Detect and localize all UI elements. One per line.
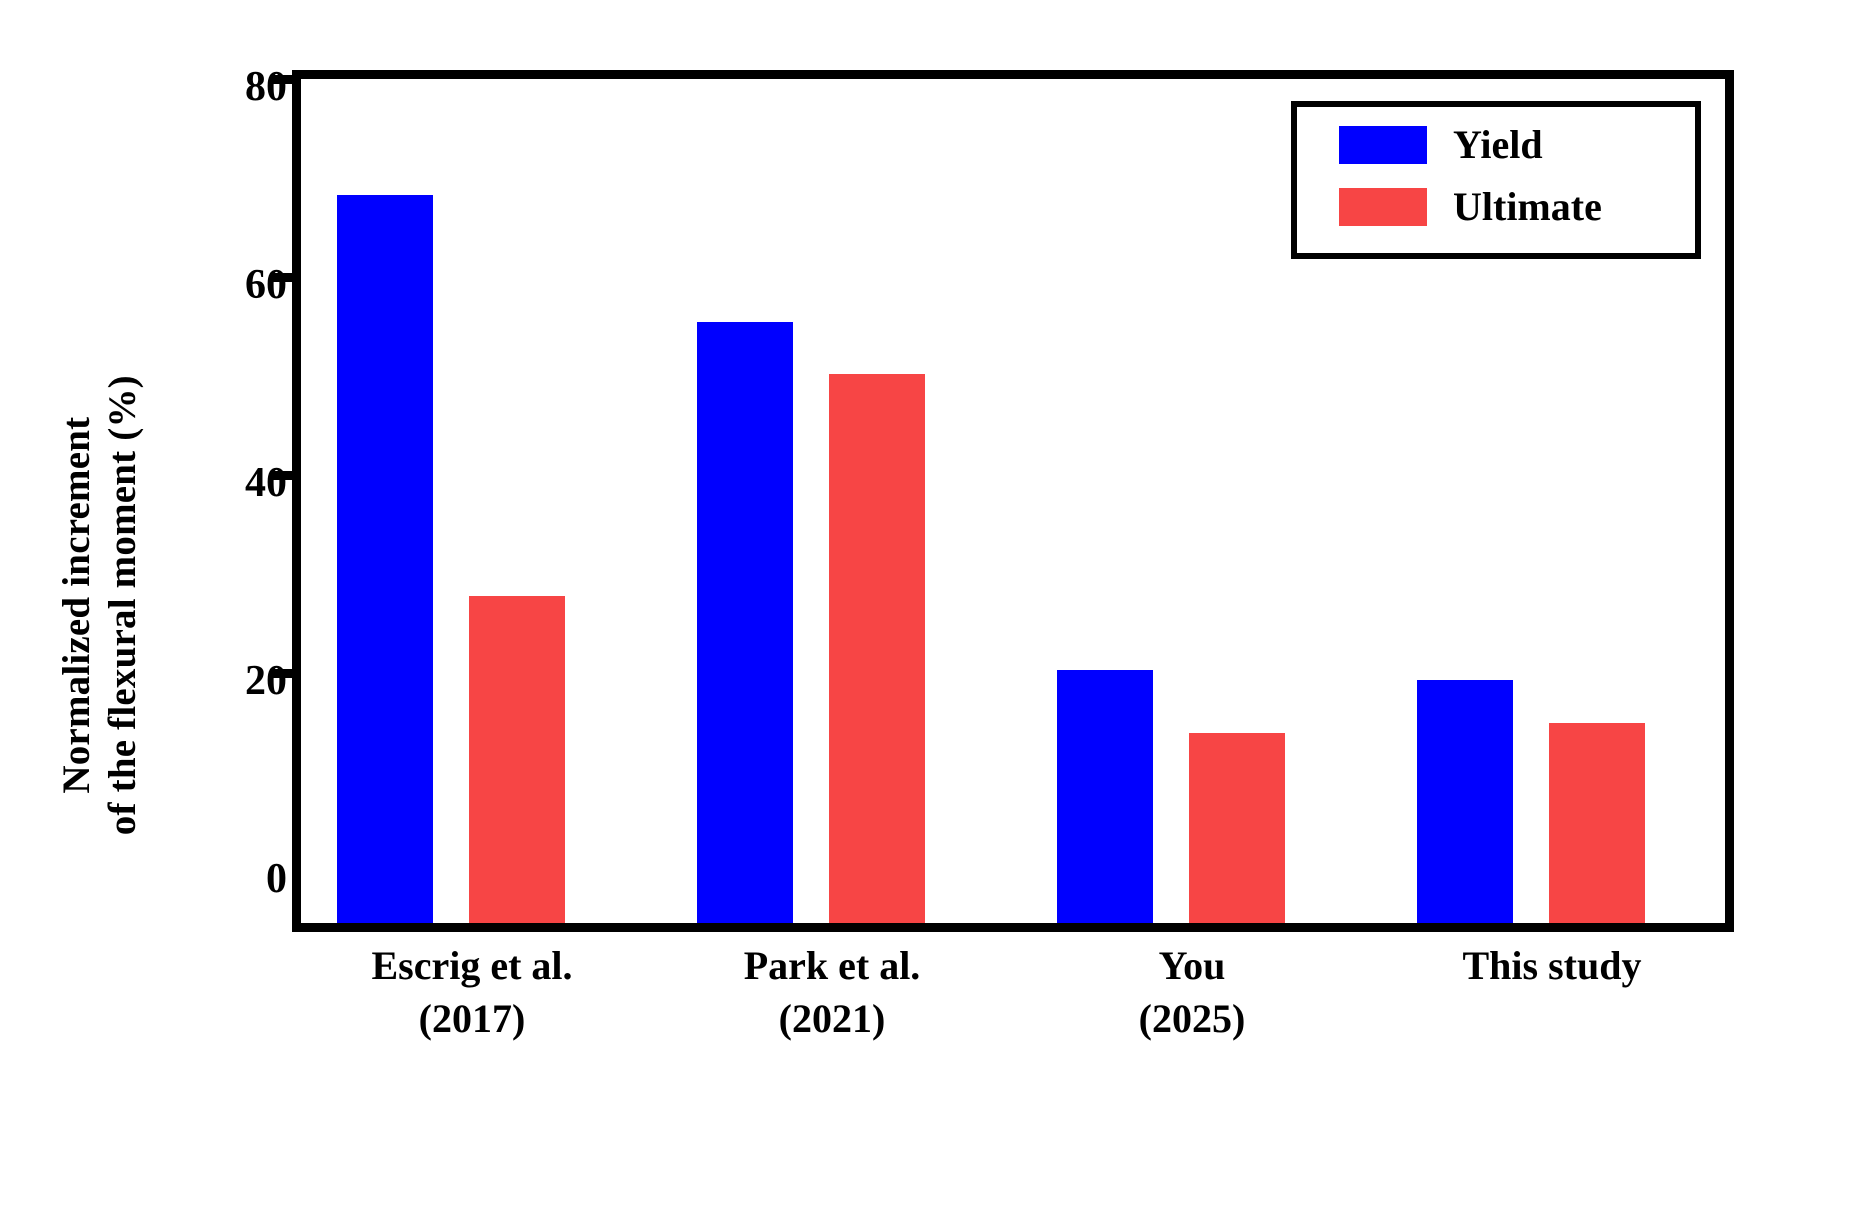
legend-label-yield: Yield [1453, 125, 1543, 165]
y-tick-label-0: 0 [177, 858, 287, 900]
bar-this-study-yield[interactable] [1417, 680, 1513, 923]
x-category-escrig-line1: Escrig et al. [371, 943, 572, 988]
x-category-you-line2: (2025) [1012, 993, 1372, 1046]
y-axis-tick-labels: 80 60 40 20 0 [175, 0, 287, 1213]
legend-label-ultimate: Ultimate [1453, 187, 1602, 227]
x-category-park-line2: (2021) [652, 993, 1012, 1046]
legend-item-yield[interactable]: Yield [1339, 125, 1543, 165]
x-category-this-study-line1: This study [1463, 943, 1642, 988]
y-axis-title-line2: of the flexural moment (%) [100, 375, 146, 835]
bar-escrig-yield[interactable] [337, 195, 433, 923]
x-axis-category-labels: Escrig et al. (2017) Park et al. (2021) … [292, 940, 1734, 1120]
y-tick-mark-80 [270, 75, 301, 84]
bar-escrig-ultimate[interactable] [469, 596, 565, 923]
y-tick-label-20: 20 [177, 660, 287, 702]
plot-frame: Yield Ultimate [292, 70, 1734, 932]
y-tick-mark-40 [270, 471, 301, 480]
x-category-you: You (2025) [1012, 940, 1372, 1046]
y-tick-label-40: 40 [177, 462, 287, 504]
x-category-escrig: Escrig et al. (2017) [292, 940, 652, 1046]
y-axis-title: Normalized increment of the flexural mom… [0, 0, 200, 1213]
x-category-park-line1: Park et al. [744, 943, 921, 988]
y-tick-label-60: 60 [177, 264, 287, 306]
bar-group-escrig [301, 79, 661, 923]
y-tick-label-80: 80 [177, 66, 287, 108]
legend-swatch-ultimate-icon [1339, 188, 1427, 226]
bar-this-study-ultimate[interactable] [1549, 723, 1645, 923]
bar-you-ultimate[interactable] [1189, 733, 1285, 923]
y-axis-title-line1: Normalized increment [55, 416, 98, 793]
x-category-park: Park et al. (2021) [652, 940, 1012, 1046]
y-tick-mark-60 [270, 273, 301, 282]
bar-chart-figure: Normalized increment of the flexural mom… [0, 0, 1865, 1213]
bar-group-park [661, 79, 1021, 923]
bar-park-ultimate[interactable] [829, 374, 925, 923]
x-category-you-line1: You [1159, 943, 1226, 988]
x-category-this-study: This study [1372, 940, 1732, 993]
bar-you-yield[interactable] [1057, 670, 1153, 923]
legend: Yield Ultimate [1291, 101, 1701, 259]
y-tick-mark-20 [270, 669, 301, 678]
legend-item-ultimate[interactable]: Ultimate [1339, 187, 1602, 227]
x-category-escrig-line2: (2017) [292, 993, 652, 1046]
legend-swatch-yield-icon [1339, 126, 1427, 164]
bar-park-yield[interactable] [697, 322, 793, 923]
